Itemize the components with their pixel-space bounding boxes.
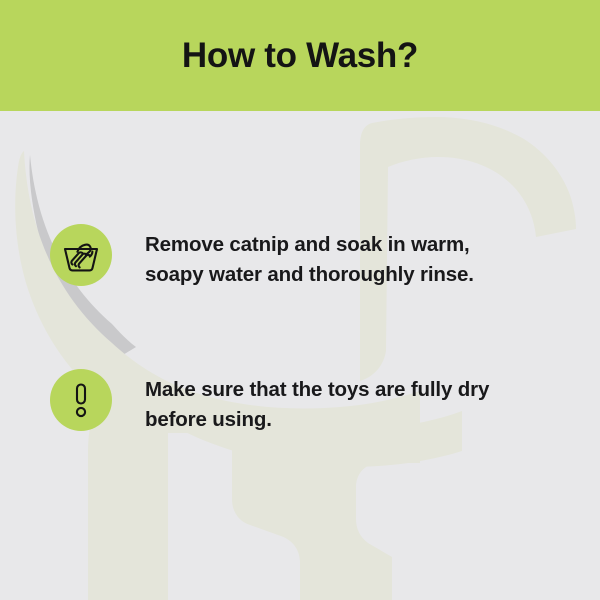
instruction-row: Make sure that the toys are fully dry be… <box>50 369 489 435</box>
icon-badge <box>50 369 112 431</box>
instruction-text: Make sure that the toys are fully dry be… <box>145 369 489 435</box>
icon-badge <box>50 224 112 286</box>
instruction-text: Remove catnip and soak in warm, soapy wa… <box>145 224 474 290</box>
cat-silhouette <box>0 111 600 600</box>
page-title: How to Wash? <box>0 0 600 111</box>
instruction-row: Remove catnip and soak in warm, soapy wa… <box>50 224 474 290</box>
how-to-wash-card: How to Wash? Remove catnip and soak in w… <box>0 0 600 600</box>
hand-wash-icon <box>61 237 101 273</box>
exclamation-mark-icon <box>67 381 95 419</box>
